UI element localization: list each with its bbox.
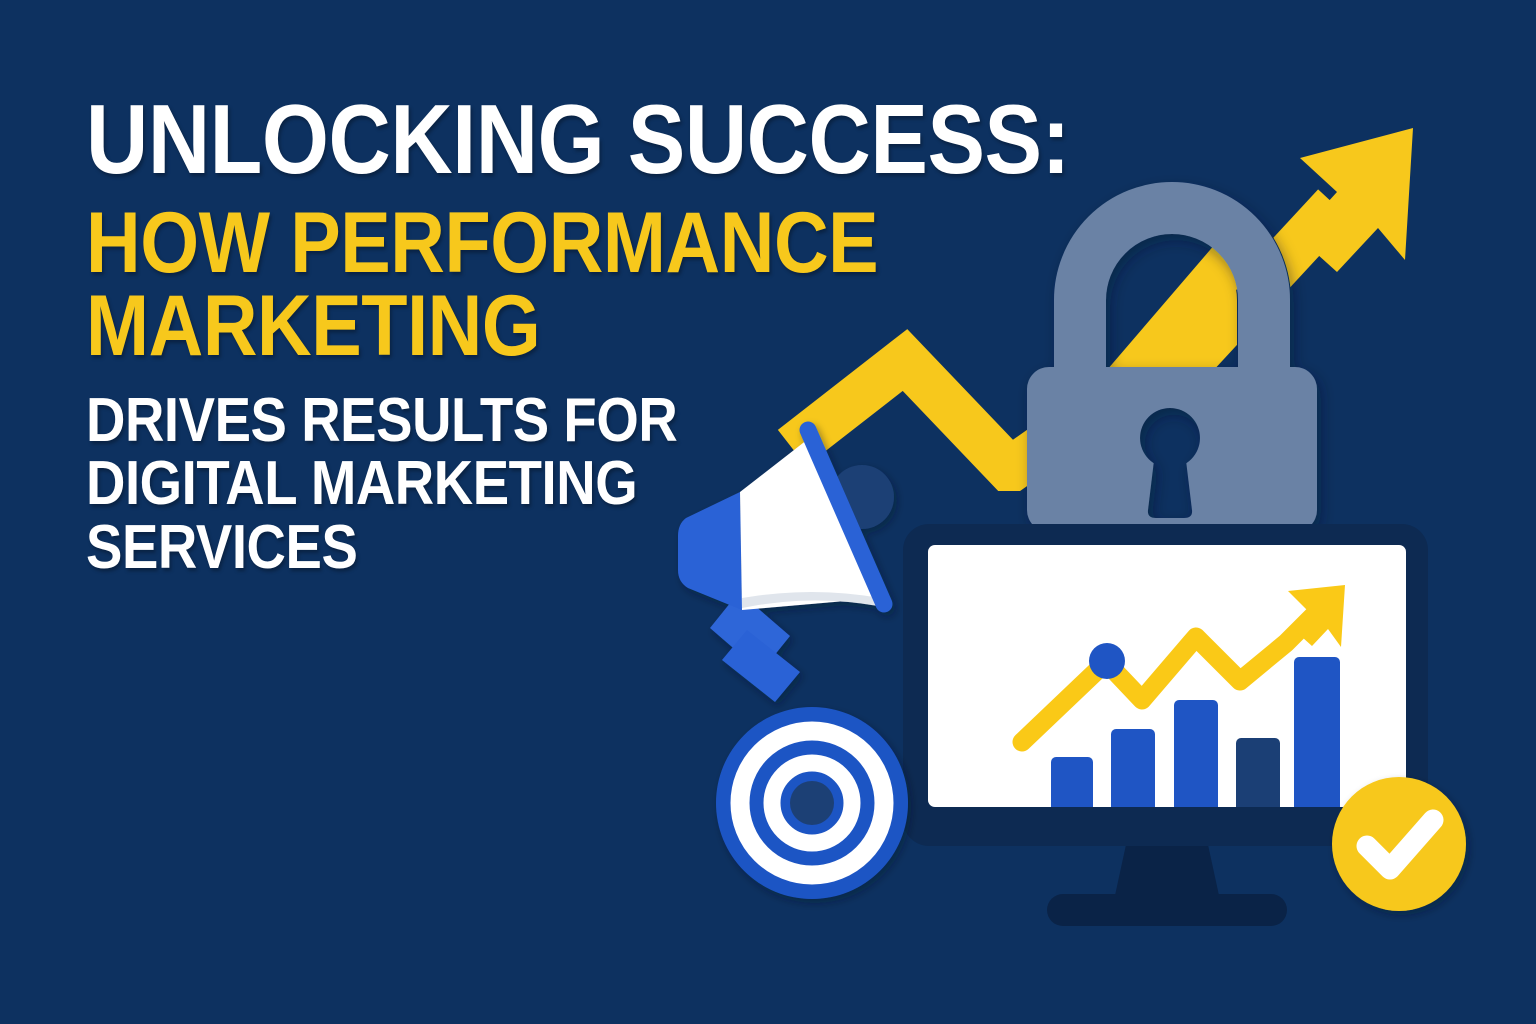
headline-block: UNLOCKING SUCCESS: HOW PERFORMANCE MARKE… (86, 92, 986, 579)
target-bullseye-icon (716, 707, 908, 899)
monitor-neck (1114, 840, 1220, 900)
chart-bar (1294, 657, 1340, 816)
headline-line-2: HOW PERFORMANCE (86, 202, 878, 285)
check-badge-icon (1332, 777, 1466, 911)
chart-bar (1174, 700, 1218, 816)
banner-canvas: UNLOCKING SUCCESS: HOW PERFORMANCE MARKE… (0, 0, 1536, 1024)
chart-bar (1111, 729, 1155, 816)
chart-bar (1236, 738, 1280, 816)
monitor-base (1047, 894, 1287, 926)
headline-line-6: SERVICES (86, 516, 878, 579)
headline-line-1: UNLOCKING SUCCESS: (86, 92, 878, 186)
headline-line-3: MARKETING (86, 285, 878, 368)
padlock-body (1027, 367, 1317, 532)
headline-line-4: DRIVES RESULTS FOR (86, 389, 878, 452)
chart-point-marker (1089, 643, 1125, 679)
target-center (790, 781, 834, 825)
headline-line-5: DIGITAL MARKETING (86, 452, 878, 515)
padlock-icon (1027, 208, 1317, 532)
